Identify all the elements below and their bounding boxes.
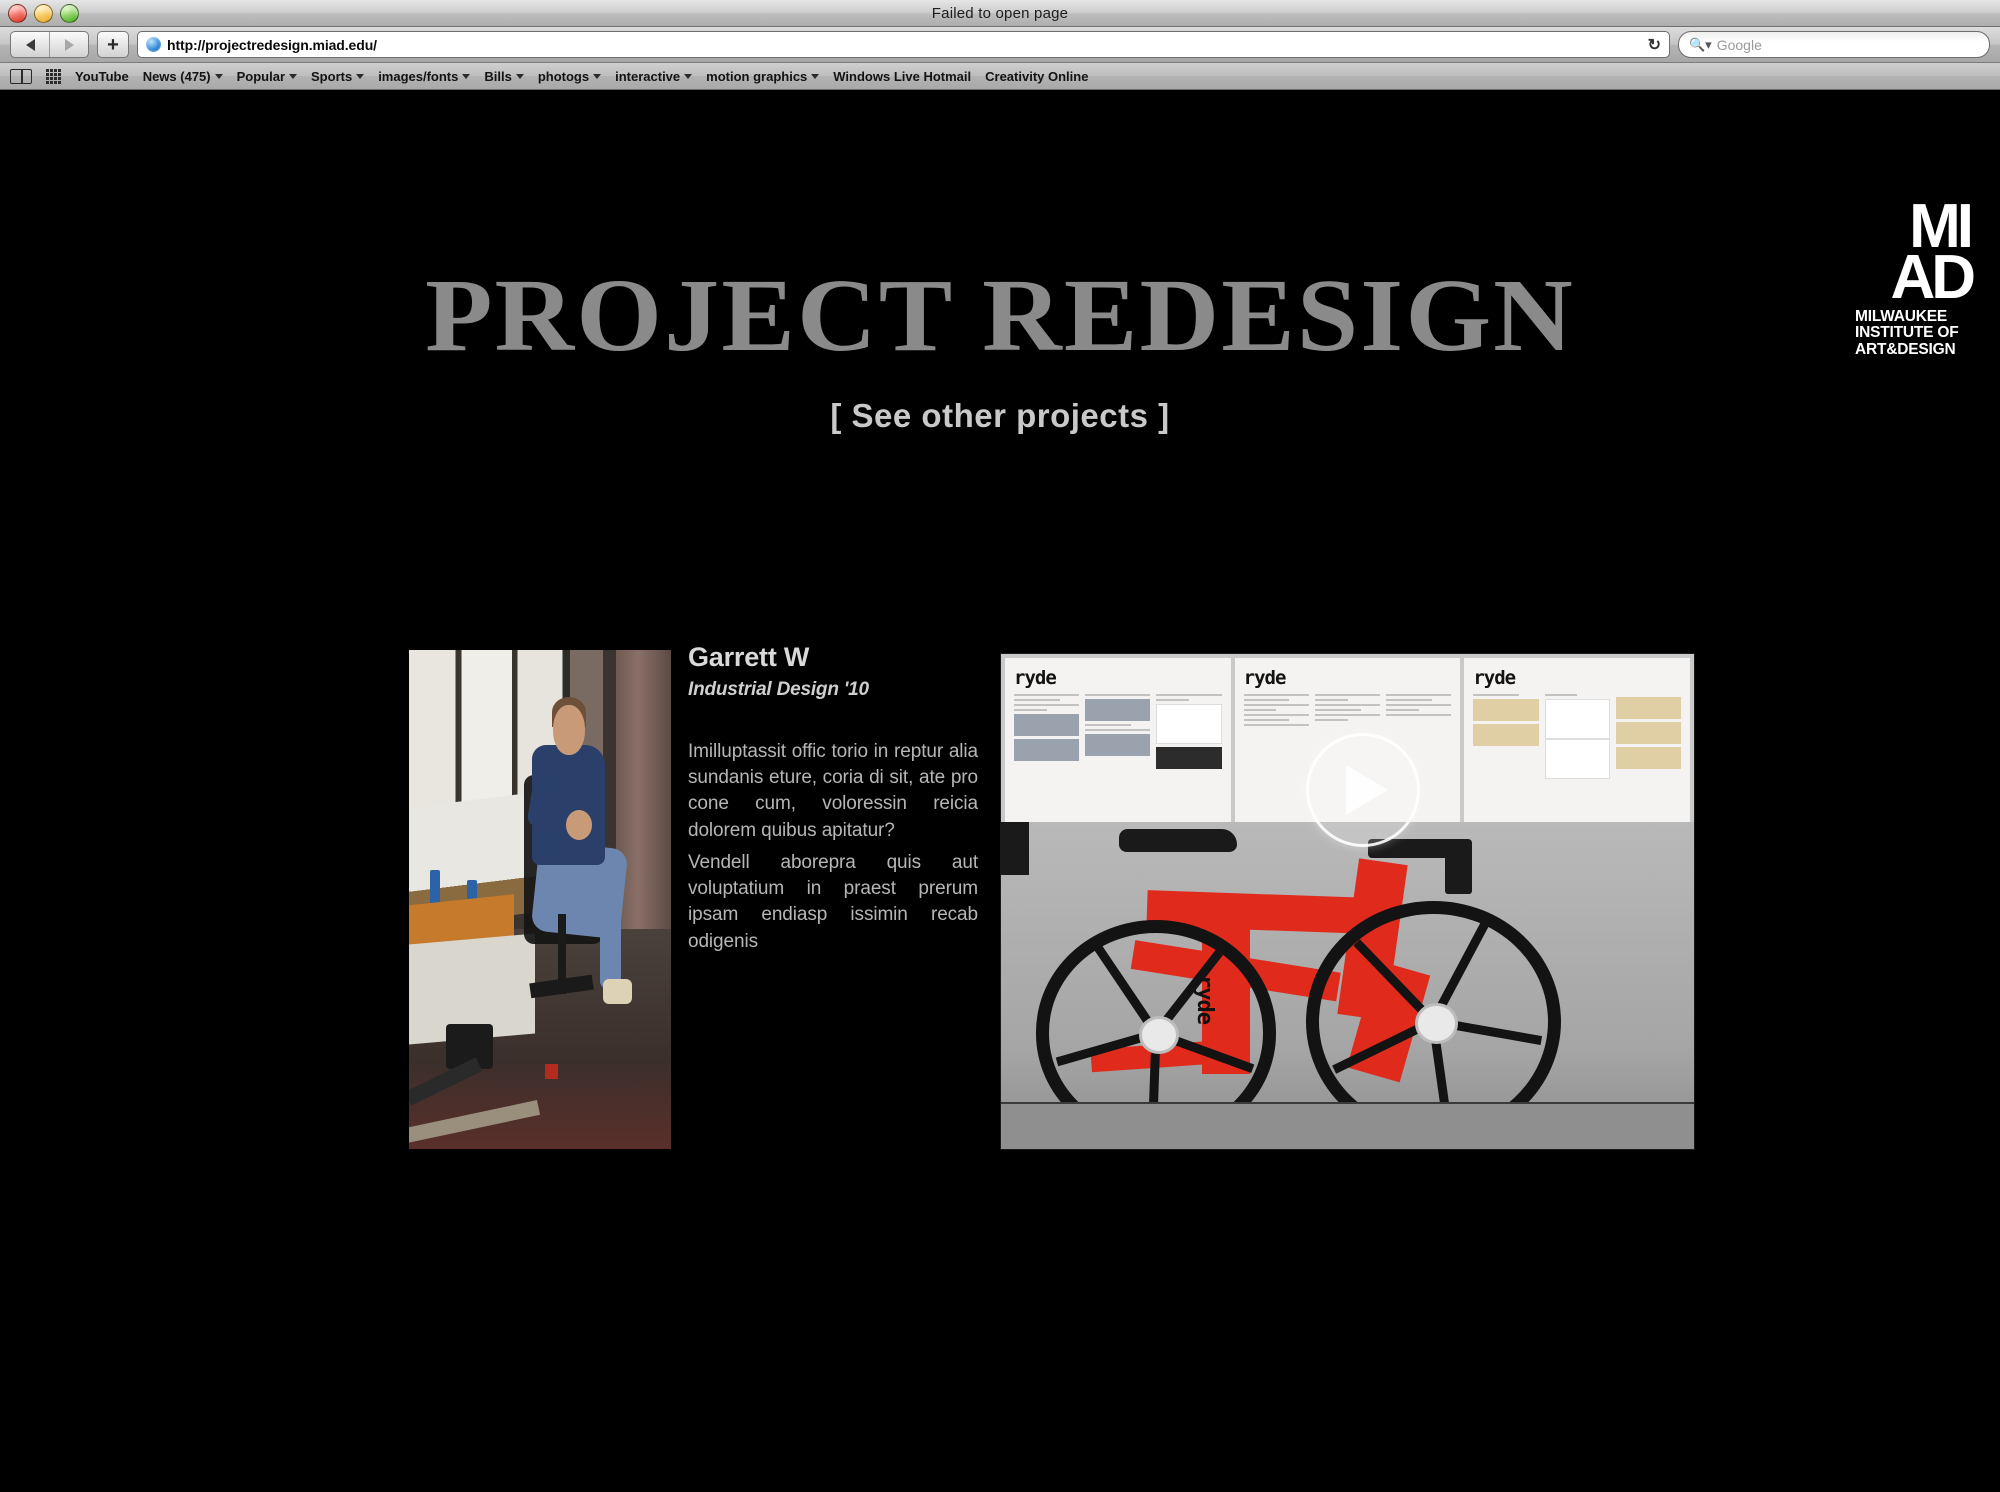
back-arrow-icon (26, 39, 35, 51)
chevron-down-icon (289, 74, 297, 79)
bookmark-label: motion graphics (706, 69, 807, 84)
project-video-player[interactable]: ryde ryde ryde (1000, 653, 1695, 1150)
chevron-down-icon (811, 74, 819, 79)
bookmark-popular[interactable]: Popular (237, 69, 297, 84)
bookmark-youtube[interactable]: YouTube (75, 69, 129, 84)
chevron-down-icon (516, 74, 524, 79)
presentation-board: ryde (1464, 658, 1690, 822)
top-sites-button[interactable] (46, 69, 61, 84)
magnifier-icon: 🔍▾ (1689, 37, 1712, 53)
browser-toolbar: + http://projectredesign.miad.edu/ ↻ 🔍▾ … (0, 27, 2000, 63)
video-floor (1001, 1102, 1694, 1149)
search-input[interactable]: 🔍▾ Google (1678, 31, 1990, 58)
student-bio: Garrett W Industrial Design '10 Imillupt… (688, 642, 978, 955)
grid-icon (46, 69, 61, 84)
show-bookmarks-button[interactable] (10, 69, 32, 84)
student-photo (409, 650, 671, 1149)
bookmark-label: Popular (237, 69, 285, 84)
forward-arrow-icon (65, 39, 74, 51)
photo-red-object (545, 1064, 558, 1079)
bookmark-windows-live-hotmail[interactable]: Windows Live Hotmail (833, 69, 971, 84)
globe-icon (146, 37, 161, 52)
book-icon (10, 69, 32, 84)
page-title: PROJECT REDESIGN (0, 256, 2000, 375)
bike-seat-post (1001, 822, 1029, 874)
address-bar[interactable]: http://projectredesign.miad.edu/ ↻ (137, 31, 1670, 58)
chevron-down-icon (684, 74, 692, 79)
bike-saddle (1119, 829, 1237, 852)
bookmark-images-fonts[interactable]: images/fonts (378, 69, 470, 84)
bookmark-news[interactable]: News (475) (143, 69, 223, 84)
forward-button[interactable] (49, 32, 88, 57)
bookmark-label: YouTube (75, 69, 129, 84)
chevron-down-icon (356, 74, 364, 79)
navigation-buttons[interactable] (10, 31, 89, 58)
bookmarks-bar: YouTube News (475) Popular Sports images… (0, 63, 2000, 90)
project-content: Garrett W Industrial Design '10 Imillupt… (0, 650, 2000, 1160)
window-controls[interactable] (8, 4, 79, 23)
new-tab-button[interactable]: + (97, 31, 129, 58)
bookmark-label: News (475) (143, 69, 211, 84)
bookmark-motion-graphics[interactable]: motion graphics (706, 69, 819, 84)
bookmark-creativity-online[interactable]: Creativity Online (985, 69, 1088, 84)
ryde-bicycle: ryde (1001, 822, 1694, 1149)
play-button-icon[interactable] (1306, 733, 1420, 847)
bookmark-interactive[interactable]: interactive (615, 69, 692, 84)
zoom-window-button[interactable] (60, 4, 79, 23)
back-button[interactable] (11, 32, 49, 57)
bookmark-photogs[interactable]: photogs (538, 69, 601, 84)
bookmark-label: Bills (484, 69, 511, 84)
bookmark-bills[interactable]: Bills (484, 69, 523, 84)
bookmark-label: Creativity Online (985, 69, 1088, 84)
reload-icon[interactable]: ↻ (1648, 35, 1661, 55)
bike-front-hub (1415, 1003, 1458, 1043)
window-title-bar: Failed to open page (0, 0, 2000, 27)
search-placeholder: Google (1717, 37, 1762, 53)
photo-person-shoe (603, 979, 632, 1004)
bookmark-label: images/fonts (378, 69, 458, 84)
close-window-button[interactable] (8, 4, 27, 23)
bookmark-label: photogs (538, 69, 589, 84)
photo-person-shin (600, 890, 621, 990)
ryde-logo: ryde (1244, 667, 1452, 689)
play-triangle-icon (1346, 765, 1388, 815)
ryde-logo: ryde (1473, 667, 1681, 689)
student-major: Industrial Design '10 (688, 679, 978, 701)
address-bar-url: http://projectredesign.miad.edu/ (167, 37, 377, 53)
photo-person-hands (566, 810, 592, 840)
bookmark-label: interactive (615, 69, 680, 84)
bike-handlebar-drop (1445, 848, 1473, 894)
chevron-down-icon (462, 74, 470, 79)
ryde-logo: ryde (1014, 667, 1222, 689)
chevron-down-icon (215, 74, 223, 79)
bookmark-sports[interactable]: Sports (311, 69, 364, 84)
see-other-projects-link[interactable]: [ See other projects ] (0, 397, 2000, 435)
browser-chrome: Failed to open page + http://projectrede… (0, 0, 2000, 90)
minimize-window-button[interactable] (34, 4, 53, 23)
bookmark-label: Sports (311, 69, 352, 84)
bookmark-label: Windows Live Hotmail (833, 69, 971, 84)
chevron-down-icon (593, 74, 601, 79)
photo-person-head (553, 705, 584, 755)
presentation-board: ryde (1005, 658, 1231, 822)
window-title: Failed to open page (0, 5, 2000, 22)
student-paragraph-1: Imilluptassit offic torio in reptur alia… (688, 739, 978, 844)
student-paragraph-2: Vendell aborepra quis aut voluptatium in… (688, 850, 978, 955)
student-name: Garrett W (688, 642, 978, 673)
bike-rear-hub (1139, 1016, 1179, 1054)
page-body: MI AD MILWAUKEE INSTITUTE OF ART&DESIGN … (0, 90, 2000, 1492)
